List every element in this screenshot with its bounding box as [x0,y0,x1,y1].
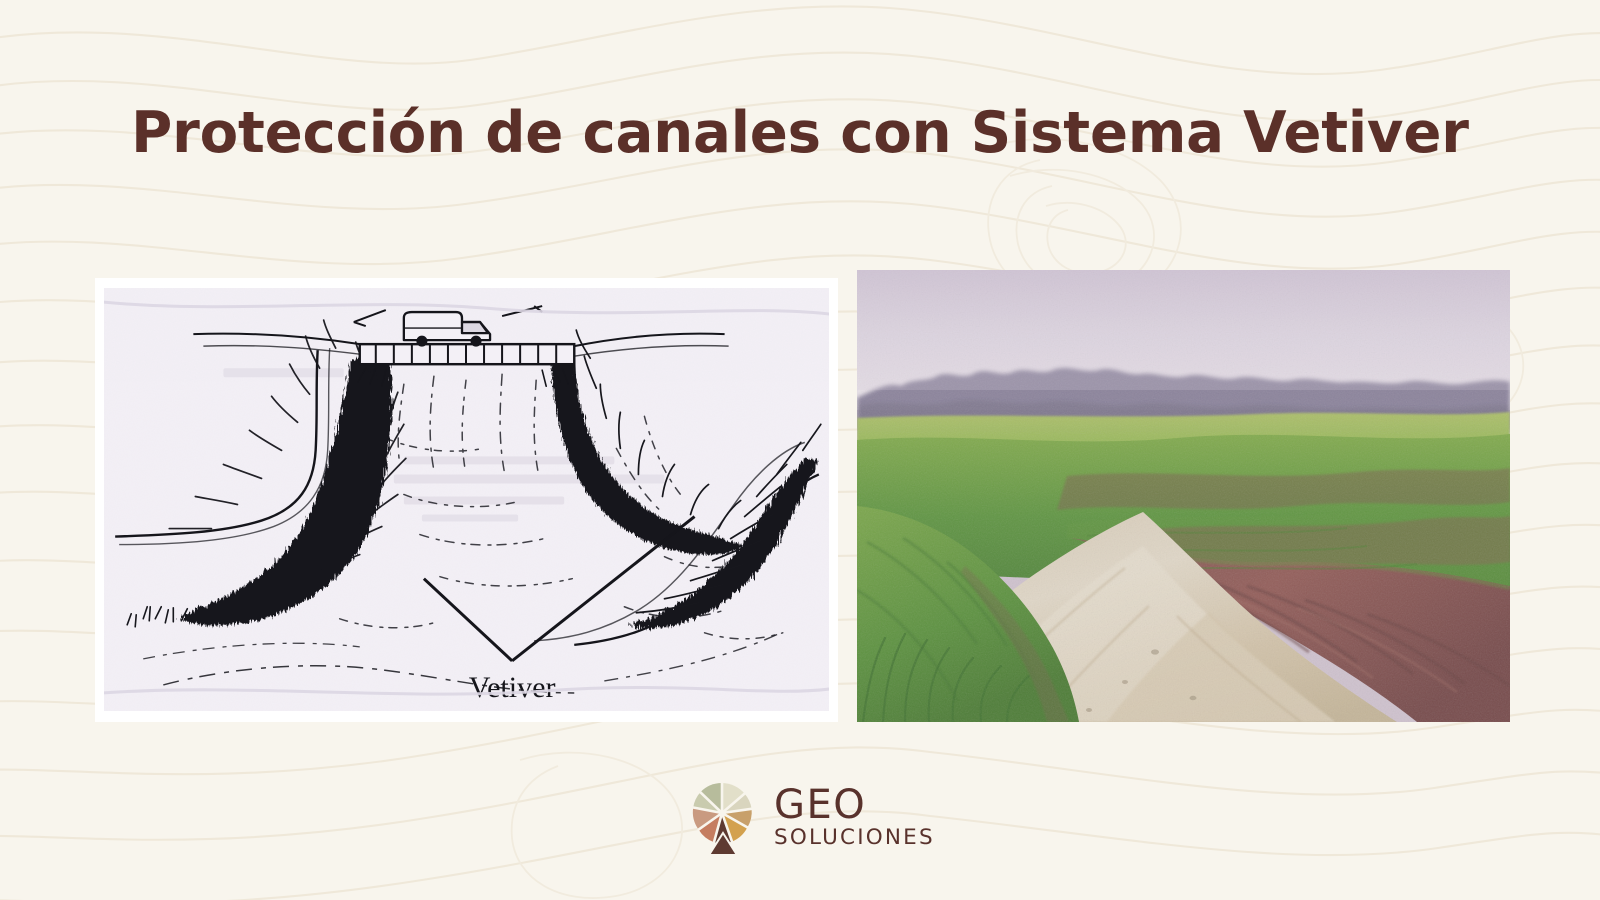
canal-diagram-frame: Vetiver [95,278,838,722]
canal-diagram-image: Vetiver [104,288,829,711]
canal-photo-frame [857,270,1510,722]
brand-logo: GEO SOLUCIONES [690,778,912,858]
slide-title-container: Protección de canales con Sistema Vetive… [0,104,1600,164]
canal-photograph [857,270,1510,722]
vetiver-drawing-label: Vetiver [469,670,556,704]
slide-canvas: .c { fill:none; stroke:#EFE8D9; stroke-w… [0,0,1600,900]
page-title: Protección de canales con Sistema Vetive… [131,104,1469,164]
logo-name-secondary: SOLUCIONES [774,827,935,850]
logo-name-primary: GEO [774,786,935,825]
geo-soluciones-mark-icon [690,781,758,855]
logo-wordmark: GEO SOLUCIONES [774,786,935,850]
